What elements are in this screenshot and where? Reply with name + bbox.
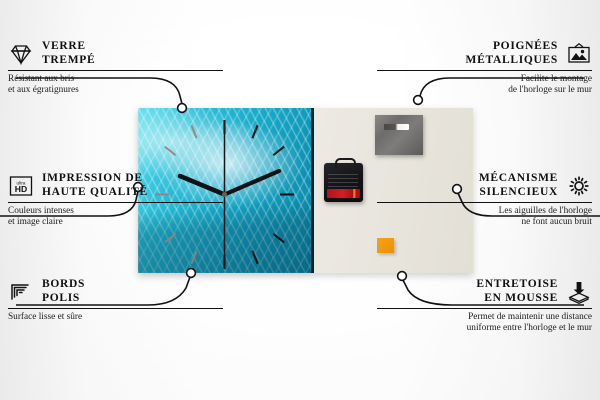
infographic-canvas: VERRE TREMPÉ Résistant aux bris et aux é… <box>0 0 600 400</box>
feature-description: Les aiguilles de l'horloge ne font aucun… <box>377 206 592 229</box>
feature-description: Résistant aux bris et aux égratignures <box>8 74 223 97</box>
foam-spacer <box>377 238 394 253</box>
metal-handle-plate <box>375 115 423 155</box>
polished-edges-icon <box>8 280 34 304</box>
feature-header: ultra HD IMPRESSION DE HAUTE QUALITÉ <box>8 172 223 199</box>
feature-header: MÉCANISME SILENCIEUX <box>377 172 592 199</box>
handle-slot <box>384 124 409 130</box>
feature-title: VERRE TREMPÉ <box>42 40 95 67</box>
feature-description: Facilite le montage de l'horloge sur le … <box>377 74 592 97</box>
feature-divider <box>8 202 223 203</box>
foam-spacer-icon <box>566 280 592 304</box>
feature-title: MÉCANISME SILENCIEUX <box>479 172 558 199</box>
feature-title: BORDS POLIS <box>42 278 85 305</box>
leader-dot-poignees <box>414 96 423 105</box>
mechanism-label-print <box>328 174 358 187</box>
feature-description: Permet de maintenir une distance uniform… <box>377 312 592 335</box>
feature-divider <box>377 308 592 309</box>
feature-title: POIGNÉES MÉTALLIQUES <box>466 40 558 67</box>
feature-impression-haute-qualite: ultra HD IMPRESSION DE HAUTE QUALITÉ Cou… <box>8 172 223 229</box>
feature-divider <box>8 308 223 309</box>
feature-header: VERRE TREMPÉ <box>8 40 223 67</box>
feature-entretoise-en-mousse: ENTRETOISE EN MOUSSE Permet de maintenir… <box>377 278 592 335</box>
feature-header: BORDS POLIS <box>8 278 223 305</box>
ultra-hd-icon: ultra HD <box>8 174 34 198</box>
feature-header: POIGNÉES MÉTALLIQUES <box>377 40 592 67</box>
clock-tick-marks <box>225 120 295 269</box>
feature-divider <box>377 70 592 71</box>
feature-description: Couleurs intenses et image claire <box>8 206 223 229</box>
feature-verre-trempe: VERRE TREMPÉ Résistant aux bris et aux é… <box>8 40 223 97</box>
picture-hanger-icon <box>566 42 592 66</box>
feature-mecanisme-silencieux: MÉCANISME SILENCIEUX Les aiguilles de l'… <box>377 172 592 229</box>
mechanism-hanging-loop <box>335 158 356 168</box>
feature-description: Surface lisse et sûre <box>8 312 223 323</box>
feature-bords-polis: BORDS POLIS Surface lisse et sûre <box>8 278 223 323</box>
clock-mechanism <box>324 163 363 202</box>
feature-divider <box>8 70 223 71</box>
diamond-icon <box>8 42 34 66</box>
feature-divider <box>377 202 592 203</box>
feature-poignees-metalliques: POIGNÉES MÉTALLIQUES Facilite le montage… <box>377 40 592 97</box>
mechanism-battery <box>327 189 360 198</box>
svg-text:HD: HD <box>15 184 27 194</box>
gear-icon <box>566 174 592 198</box>
feature-header: ENTRETOISE EN MOUSSE <box>377 278 592 305</box>
feature-title: IMPRESSION DE HAUTE QUALITÉ <box>42 172 148 199</box>
minute-hand <box>225 171 280 195</box>
feature-title: ENTRETOISE EN MOUSSE <box>476 278 558 305</box>
